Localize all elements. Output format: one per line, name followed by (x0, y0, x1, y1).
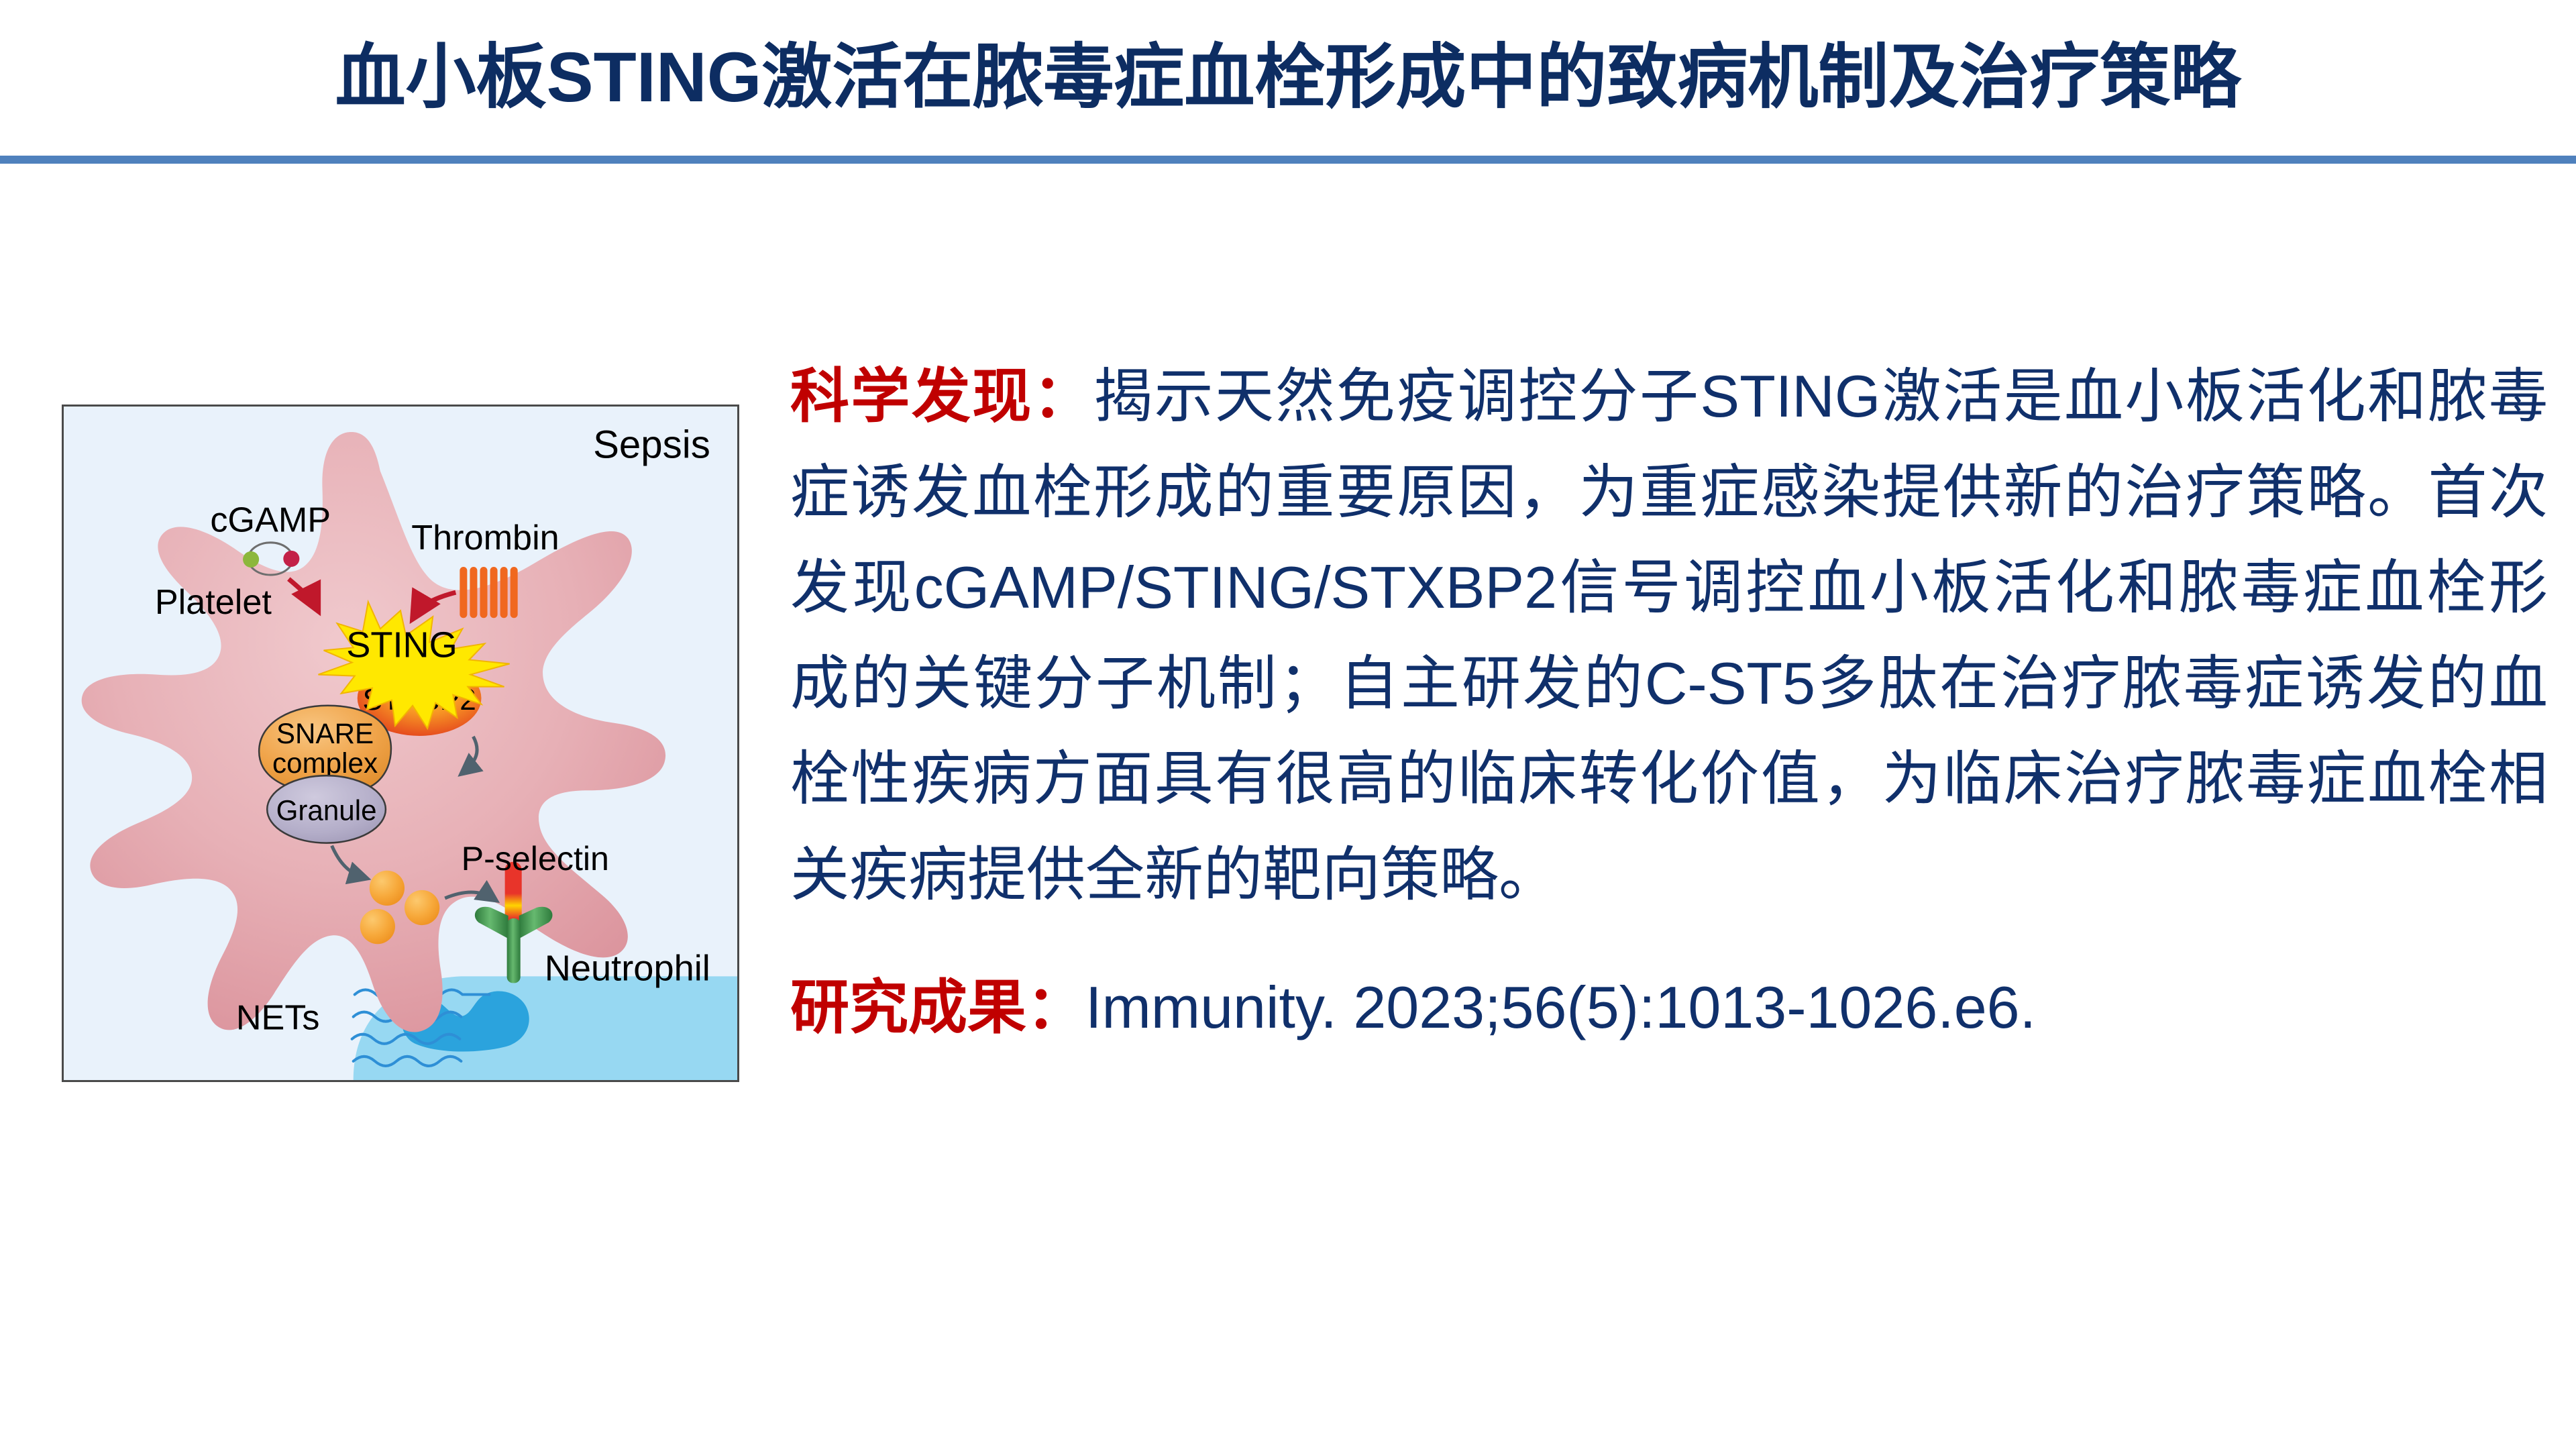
title-divider-rule (0, 156, 2576, 164)
sting-label: STING (346, 625, 458, 665)
findings-body-text: 揭示天然免疫调控分子STING激活是血小板活化和脓毒症诱发血栓形成的重要原因，为… (790, 363, 2548, 908)
mechanism-figure-panel: STXBP2 STING SNARE complex Granule (62, 405, 739, 1082)
research-results-line: 研究成果：Immunity. 2023;56(5):1013-1026.e6. (790, 969, 2548, 1046)
neutrophil-label: Neutrophil (545, 948, 710, 988)
p-selectin-label: P-selectin (462, 840, 609, 877)
scientific-findings-paragraph: 科学发现：揭示天然免疫调控分子STING激活是血小板活化和脓毒症诱发血栓形成的重… (790, 349, 2548, 922)
content-text-block: 科学发现：揭示天然免疫调控分子STING激活是血小板活化和脓毒症诱发血栓形成的重… (790, 349, 2548, 1046)
snare-label-line2: complex (272, 747, 378, 779)
sepsis-label: Sepsis (593, 423, 710, 466)
results-lead-label: 研究成果： (790, 974, 1085, 1040)
granule-node: Granule (267, 775, 386, 843)
mechanism-diagram: STXBP2 STING SNARE complex Granule (64, 407, 737, 1080)
granule-label: Granule (276, 794, 377, 826)
cgamp-label: cGAMP (210, 501, 331, 540)
page-title: 血小板STING激活在脓毒症血栓形成中的致病机制及治疗策略 (335, 39, 2241, 117)
findings-lead-label: 科学发现： (790, 363, 1093, 429)
platelet-label: Platelet (155, 583, 272, 622)
snare-label-line1: SNARE (276, 718, 374, 749)
nets-label: NETs (236, 999, 320, 1038)
results-citation: Immunity. 2023;56(5):1013-1026.e6. (1085, 974, 2036, 1040)
title-bar: 血小板STING激活在脓毒症血栓形成中的致病机制及治疗策略 (0, 0, 2576, 156)
thrombin-label: Thrombin (411, 519, 559, 557)
